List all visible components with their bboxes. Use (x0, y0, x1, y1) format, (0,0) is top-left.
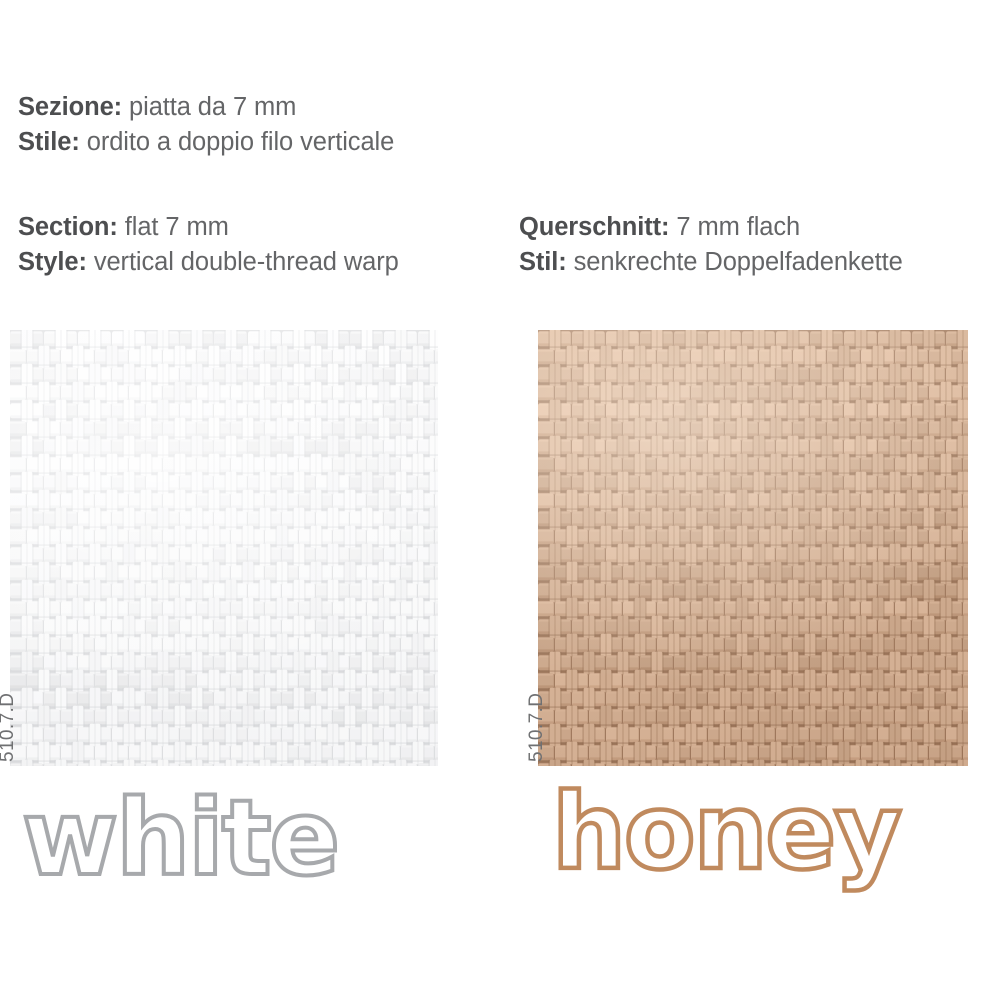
spec-line-section-english: Section: flat 7 mm (18, 210, 399, 245)
spec-block-german: Querschnitt: 7 mm flach Stil: senkrechte… (519, 210, 903, 280)
weave-texture-white (10, 330, 438, 766)
spec-value-style-italian: ordito a doppio filo verticale (80, 128, 394, 156)
spec-line-style-italian: Stile: ordito a doppio filo verticale (18, 125, 394, 160)
swatch-code-white: 510.7.D (0, 693, 19, 762)
spec-value-style-english: vertical double-thread warp (87, 248, 399, 276)
spec-block-english: Section: flat 7 mm Style: vertical doubl… (18, 210, 399, 280)
colour-name-honey: honey (552, 780, 900, 884)
spec-label-style-english: Style: (18, 248, 87, 276)
spec-label-section-italian: Sezione: (18, 93, 122, 121)
colour-sheet: Sezione: piatta da 7 mm Stile: ordito a … (0, 0, 990, 990)
spec-value-section-english: flat 7 mm (118, 213, 229, 241)
spec-block-italian: Sezione: piatta da 7 mm Stile: ordito a … (18, 90, 394, 160)
swatch-code-honey: 510.7.D (526, 693, 548, 762)
spec-label-section-english: Section: (18, 213, 118, 241)
spec-line-section-german: Querschnitt: 7 mm flach (519, 210, 903, 245)
spec-line-style-german: Stil: senkrechte Doppelfadenkette (519, 245, 903, 280)
spec-value-style-german: senkrechte Doppelfadenkette (567, 248, 903, 276)
spec-label-style-german: Stil: (519, 248, 567, 276)
weave-swatch-white (10, 330, 438, 766)
weave-texture-honey (538, 330, 968, 766)
spec-line-section-italian: Sezione: piatta da 7 mm (18, 90, 394, 125)
colour-name-white: white (22, 786, 338, 890)
spec-label-style-italian: Stile: (18, 128, 80, 156)
spec-value-section-italian: piatta da 7 mm (122, 93, 296, 121)
spec-label-section-german: Querschnitt: (519, 213, 669, 241)
weave-swatch-honey (538, 330, 968, 766)
spec-line-style-english: Style: vertical double-thread warp (18, 245, 399, 280)
spec-value-section-german: 7 mm flach (669, 213, 800, 241)
